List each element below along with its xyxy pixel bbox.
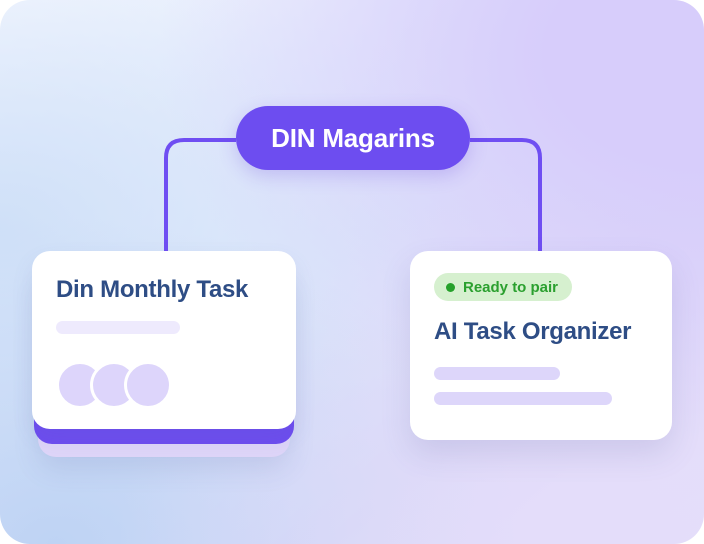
connector-left xyxy=(166,140,236,253)
card-ai-task-organizer[interactable]: Ready to pair AI Task Organizer xyxy=(410,251,672,440)
right-card-skeleton-line xyxy=(434,392,612,405)
connector-right xyxy=(470,140,540,253)
hub-pill[interactable]: DIN Magarins xyxy=(236,106,470,170)
status-badge-label: Ready to pair xyxy=(463,280,558,295)
right-card-title: AI Task Organizer xyxy=(434,319,648,345)
diagram-canvas: DIN Magarins Din Monthly Task Ready to p… xyxy=(0,0,704,544)
status-badge: Ready to pair xyxy=(434,273,572,301)
card-din-monthly-task[interactable]: Din Monthly Task xyxy=(32,251,296,429)
hub-pill-label: DIN Magarins xyxy=(271,125,435,151)
left-card-title: Din Monthly Task xyxy=(56,277,272,303)
left-card-stack: Din Monthly Task xyxy=(32,251,296,459)
right-card-skeleton-line xyxy=(434,367,560,380)
left-card-skeleton-line xyxy=(56,321,180,334)
avatar[interactable] xyxy=(124,361,172,409)
avatar-group[interactable] xyxy=(56,361,272,409)
status-dot-icon xyxy=(446,283,455,292)
